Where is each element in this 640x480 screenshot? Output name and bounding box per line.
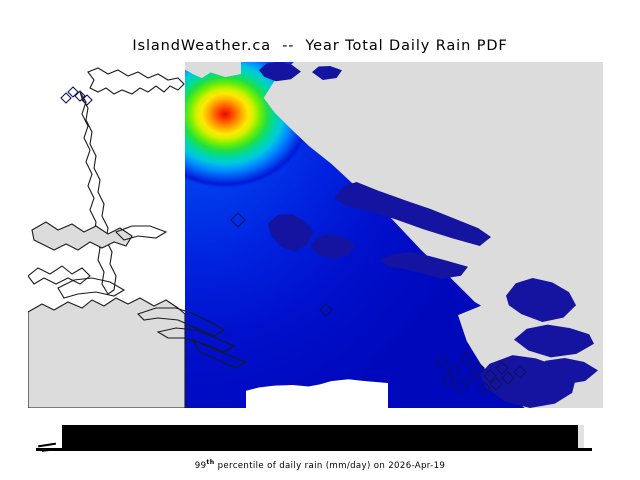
page-title: IslandWeather.ca -- Year Total Daily Rai… [0,38,640,54]
map-panel[interactable] [28,62,603,408]
caption-text: percentile of daily rain (mm/day) on 202… [214,461,445,471]
outside-domain-area [28,62,185,408]
colorbar[interactable] [62,425,584,448]
colorbar-caption: 99th percentile of daily rain (mm/day) o… [0,459,640,471]
colorbar-tick [38,443,56,448]
colorbar-axis-line [36,448,592,451]
colorbar-gradient [62,425,578,448]
colorbar-tick [42,448,56,452]
colorbar-overflow-swatch [578,425,584,448]
caption-percentile-number: 99 [195,461,207,471]
